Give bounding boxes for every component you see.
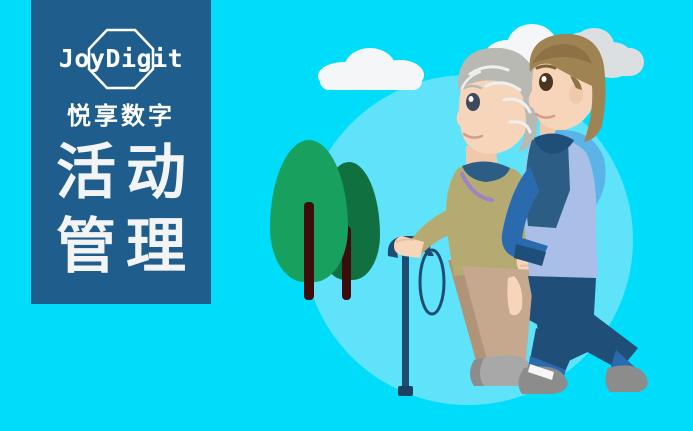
logo-wordmark: JoyDigit	[57, 42, 185, 76]
title-line-1: 活动	[31, 136, 211, 210]
walking-cane	[388, 236, 444, 396]
logo-block: JoyDigit 悦享数字	[31, 28, 211, 131]
tree-front-trunk	[304, 202, 314, 300]
banner-canvas: JoyDigit 悦享数字 活动 管理	[0, 0, 693, 431]
panel-title: 活动 管理	[31, 136, 211, 284]
people-illustration	[370, 30, 660, 400]
title-line-2: 管理	[31, 210, 211, 284]
logo-mark: JoyDigit	[57, 28, 185, 90]
trees-group	[270, 140, 380, 300]
logo-subtitle: 悦享数字	[31, 96, 211, 131]
brand-panel: JoyDigit 悦享数字 活动 管理	[31, 0, 211, 304]
